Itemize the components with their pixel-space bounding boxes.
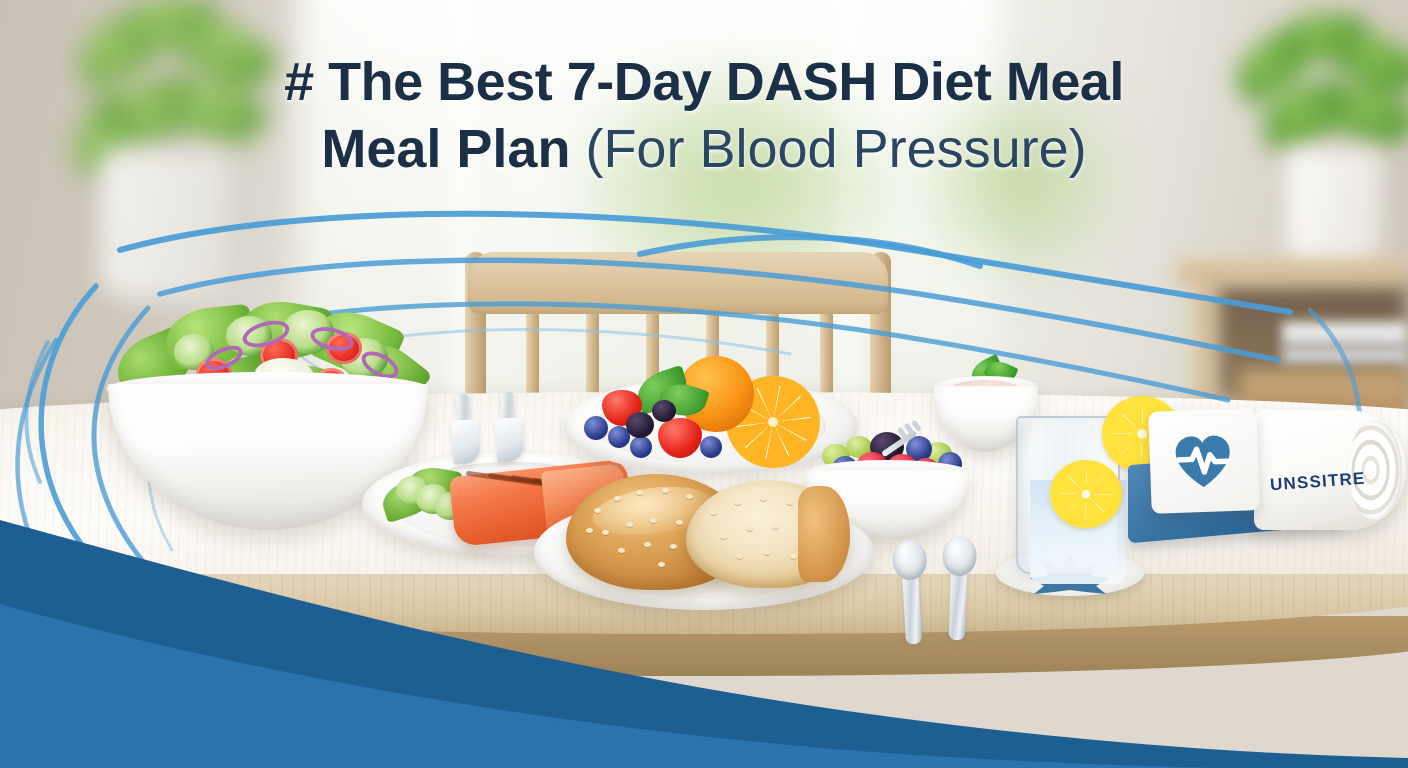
page-title: # The Best 7-Day DASH Diet Meal [0, 52, 1408, 112]
bottom-wave-decoration [0, 478, 1408, 768]
blueberry [584, 416, 608, 440]
banner-canvas: UNSSITRE # The Best 7-Day DASH Diet Meal… [0, 0, 1408, 768]
chair-spindle [526, 310, 539, 406]
title-hash-prefix: # [284, 52, 314, 112]
blueberry-4 [700, 436, 722, 458]
blueberry-3 [630, 436, 652, 458]
blackberry-2 [652, 400, 676, 422]
blackberry [626, 412, 654, 438]
page-subtitle: Meal Plan (For Blood Pressure) [0, 118, 1408, 182]
shelf-leg [1192, 278, 1214, 408]
title-line2-parenthetical: (For Blood Pressure) [585, 119, 1086, 179]
shelf-books [1282, 322, 1408, 346]
title-line1-text: The Best 7-Day DASH Diet Meal [328, 52, 1124, 112]
chair-backrest [468, 252, 888, 314]
banner-title-block: # The Best 7-Day DASH Diet Meal Meal Pla… [0, 52, 1408, 182]
title-line2-strong: Meal Plan [321, 119, 570, 179]
shelf-books-2 [1282, 348, 1408, 364]
